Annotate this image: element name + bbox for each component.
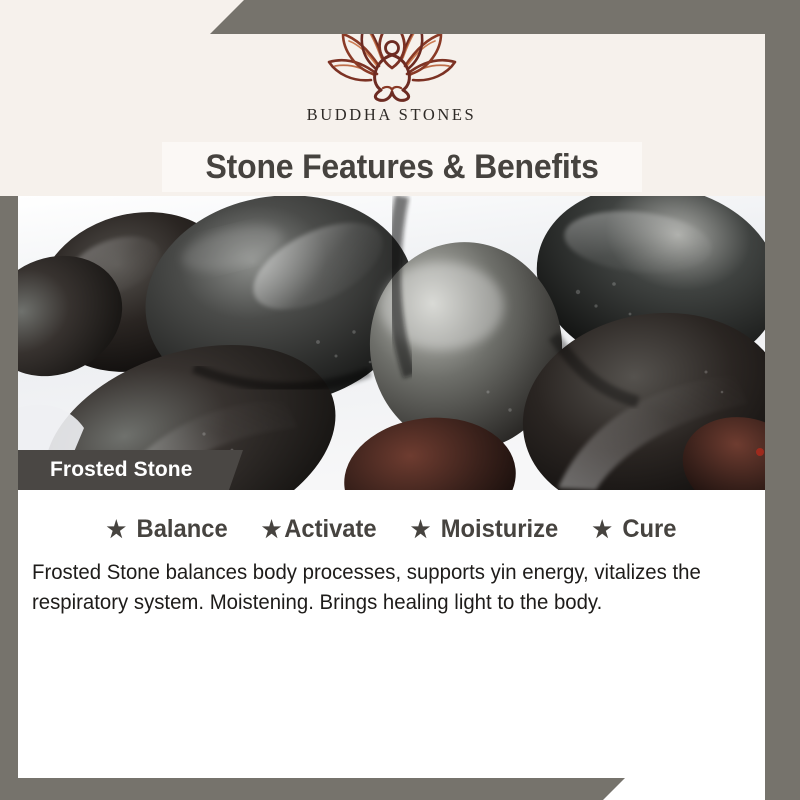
page-title: Stone Features & Benefits xyxy=(205,148,598,187)
star-icon: ★ xyxy=(107,516,127,542)
benefit-item-1: ★Activate xyxy=(262,515,377,544)
content-area: ★Balance ★Activate ★Moisturize ★Cure Fro… xyxy=(18,490,765,780)
benefit-label-0: Balance xyxy=(137,515,228,543)
stone-name-badge: Frosted Stone xyxy=(18,450,243,490)
frame-bar-right xyxy=(765,0,800,800)
stone-photo xyxy=(18,196,765,490)
title-banner: Stone Features & Benefits xyxy=(162,142,642,192)
star-icon: ★ xyxy=(262,516,282,542)
frame-bar-left xyxy=(0,196,18,800)
poster-canvas: BUDDHA STONES Stone Features & Benefits xyxy=(0,0,800,800)
benefit-label-2: Moisturize xyxy=(441,515,558,543)
star-icon: ★ xyxy=(592,516,612,542)
brand-name: BUDDHA STONES xyxy=(307,105,477,125)
benefit-item-3: ★Cure xyxy=(592,515,676,544)
benefit-item-2: ★Moisturize xyxy=(411,515,558,544)
frame-bar-top xyxy=(210,0,800,34)
stone-description: Frosted Stone balances body processes, s… xyxy=(32,558,729,618)
stone-name-label: Frosted Stone xyxy=(50,458,192,482)
benefit-item-0: ★Balance xyxy=(107,515,228,544)
benefit-label-1: Activate xyxy=(284,515,376,543)
benefits-list: ★Balance ★Activate ★Moisturize ★Cure xyxy=(37,515,747,544)
star-icon: ★ xyxy=(411,516,431,542)
benefit-label-3: Cure xyxy=(622,515,676,543)
frame-bar-bottom xyxy=(0,778,625,800)
